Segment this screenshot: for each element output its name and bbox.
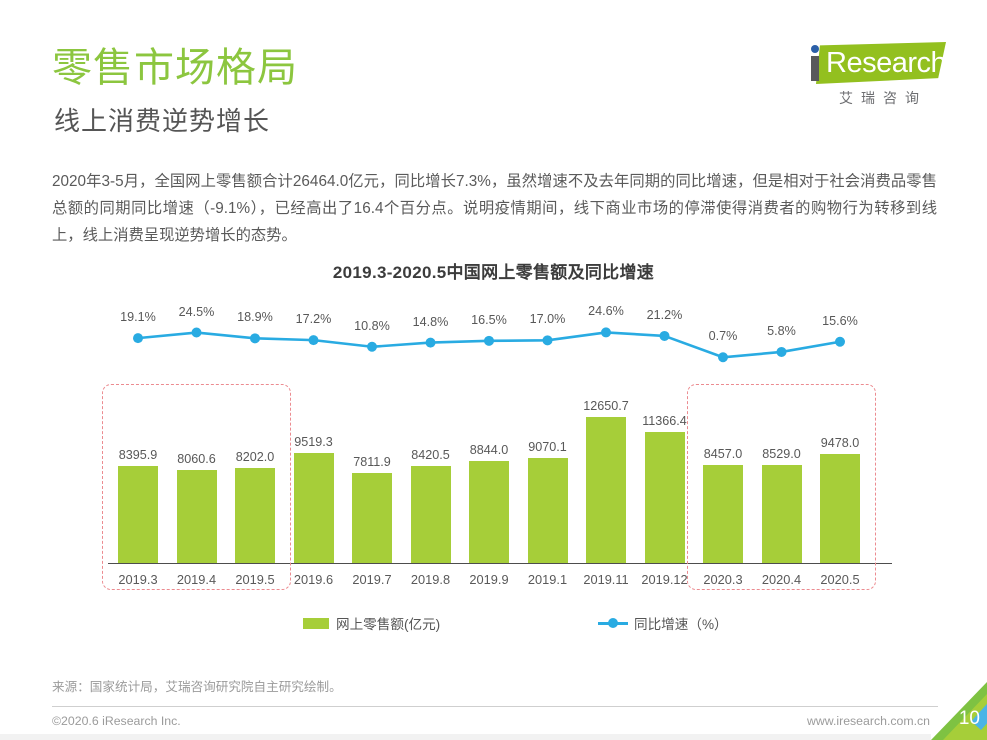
logo-chinese-name: 艾瑞咨询 <box>820 88 946 108</box>
bar-value-label: 12650.7 <box>573 399 639 413</box>
line-marker <box>192 328 202 338</box>
bar-column: 8844.0 <box>469 461 509 563</box>
legend-line-marker-icon <box>598 617 628 629</box>
logo-mark: Research <box>800 40 950 88</box>
line-value-label: 17.0% <box>518 312 578 326</box>
bar-column: 11366.4 <box>645 432 685 563</box>
bar-value-label: 8420.5 <box>398 448 464 462</box>
footer-divider <box>52 706 938 707</box>
bar <box>352 473 392 563</box>
line-marker <box>367 342 377 352</box>
footer-band <box>0 734 931 740</box>
line-marker <box>601 327 611 337</box>
page-number-corner: 10 <box>931 682 987 740</box>
line-marker <box>309 335 319 345</box>
line-marker <box>718 352 728 362</box>
source-note: 来源：国家统计局，艾瑞咨询研究院自主研究绘制。 <box>52 676 342 695</box>
chart: 8395.98060.68202.09519.37811.98420.58844… <box>100 296 900 608</box>
line-value-label: 15.6% <box>810 314 870 328</box>
line-marker <box>133 333 143 343</box>
line-marker <box>660 331 670 341</box>
line-value-label: 16.5% <box>459 313 519 327</box>
bar <box>586 417 626 563</box>
highlight-box-2020 <box>687 384 876 590</box>
page-title: 零售市场格局 <box>52 44 298 92</box>
highlight-box-2019 <box>102 384 291 590</box>
chart-title: 2019.3-2020.5中国网上零售额及同比增速 <box>0 258 987 283</box>
page-number: 10 <box>959 708 980 730</box>
legend-item-bar: 网上零售额(亿元) <box>303 613 440 633</box>
line-value-label: 10.8% <box>342 319 402 333</box>
bar-value-label: 7811.9 <box>339 455 405 469</box>
bar-column: 9070.1 <box>528 458 568 563</box>
legend-item-line: 同比增速（%） <box>598 613 728 633</box>
line-value-label: 14.8% <box>401 315 461 329</box>
bar-value-label: 8844.0 <box>456 443 522 457</box>
bar-value-label: 9070.1 <box>515 440 581 454</box>
bar <box>469 461 509 563</box>
legend-bar-swatch-icon <box>303 618 329 629</box>
line-marker <box>426 338 436 348</box>
x-axis-label: 2019.8 <box>398 572 464 587</box>
line-marker <box>250 333 260 343</box>
line-marker <box>777 347 787 357</box>
line-marker <box>484 336 494 346</box>
legend-line-label: 同比增速（%） <box>634 613 728 633</box>
footer-copyright: ©2020.6 iResearch Inc. <box>52 714 181 728</box>
x-axis-label: 2019.7 <box>339 572 405 587</box>
bar <box>294 453 334 563</box>
line-value-label: 0.7% <box>693 329 753 343</box>
body-paragraph: 2020年3-5月，全国网上零售额合计26464.0亿元，同比增长7.3%，虽然… <box>52 168 937 249</box>
bar-column: 7811.9 <box>352 473 392 563</box>
line-value-label: 21.2% <box>635 308 695 322</box>
iresearch-logo: Research 艾瑞咨询 <box>800 40 950 112</box>
bar <box>411 466 451 563</box>
line-value-label: 24.6% <box>576 304 636 318</box>
line-value-label: 24.5% <box>167 305 227 319</box>
bar-column: 8420.5 <box>411 466 451 563</box>
bar <box>528 458 568 563</box>
chart-legend: 网上零售额(亿元) 同比增速（%） <box>0 613 987 637</box>
legend-bar-label: 网上零售额(亿元) <box>336 613 440 633</box>
line-marker <box>835 337 845 347</box>
line-marker <box>543 335 553 345</box>
x-axis-label: 2019.11 <box>573 572 639 587</box>
line-value-label: 19.1% <box>108 310 168 324</box>
line-value-label: 18.9% <box>225 310 285 324</box>
page-subtitle: 线上消费逆势增长 <box>54 104 270 138</box>
logo-wordmark: Research <box>826 47 946 79</box>
logo-i-stem-icon <box>811 56 819 81</box>
footer-website: www.iresearch.com.cn <box>807 714 930 728</box>
bar-column: 12650.7 <box>586 417 626 563</box>
x-axis-label: 2019.1 <box>515 572 581 587</box>
x-axis-label: 2019.9 <box>456 572 522 587</box>
chart-plot-area: 8395.98060.68202.09519.37811.98420.58844… <box>100 296 900 608</box>
bar <box>645 432 685 563</box>
line-value-label: 17.2% <box>284 312 344 326</box>
bar-column: 9519.3 <box>294 453 334 563</box>
logo-i-dot-icon <box>811 45 819 53</box>
line-value-label: 5.8% <box>752 324 812 338</box>
